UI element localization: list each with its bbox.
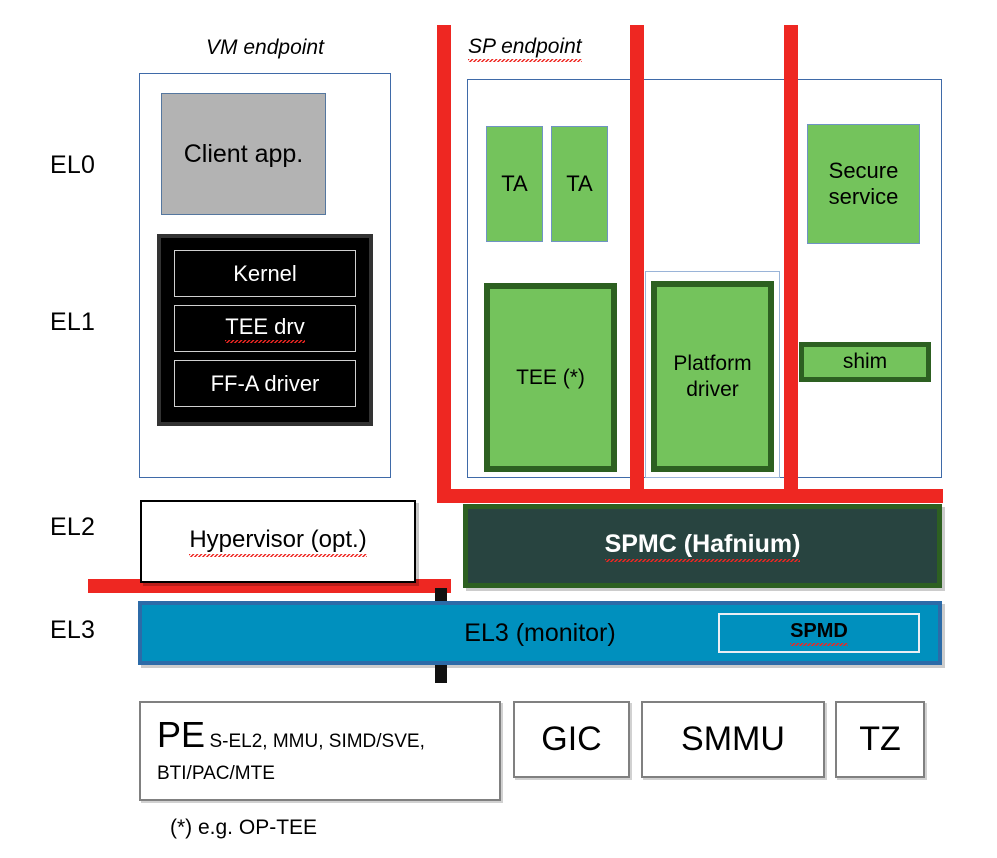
kernel-label: Kernel bbox=[233, 261, 297, 287]
shim-box[interactable]: shim bbox=[799, 342, 931, 382]
sp-endpoint-caption: SP endpoint bbox=[468, 33, 728, 63]
el0-row-label: EL0 bbox=[50, 148, 140, 182]
gic-label: GIC bbox=[541, 720, 601, 759]
ffa-driver-label: FF-A driver bbox=[211, 371, 320, 397]
spmd-box[interactable]: SPMD bbox=[718, 613, 920, 653]
pe-details-line1: S-EL2, MMU, SIMD/SVE, bbox=[209, 731, 424, 752]
secure-service-box[interactable]: Secure service bbox=[807, 124, 920, 244]
footnote-text: (*) e.g. OP-TEE bbox=[170, 816, 317, 839]
el0-label-text: EL0 bbox=[50, 151, 95, 180]
el3-label-text: EL3 bbox=[50, 616, 95, 645]
tee-drv-box[interactable]: TEE drv bbox=[174, 305, 356, 352]
platform-driver-label-line2: driver bbox=[686, 377, 739, 402]
vm-kernel-stack: Kernel TEE drv FF-A driver bbox=[157, 234, 373, 426]
tee-box[interactable]: TEE (*) bbox=[484, 283, 617, 472]
smmu-label: SMMU bbox=[681, 720, 785, 759]
pe-name-label: PE bbox=[157, 714, 205, 755]
pe-details-line2: BTI/PAC/MTE bbox=[157, 760, 483, 788]
security-boundary-horizontal-upper bbox=[437, 489, 943, 503]
tee-drv-label: TEE drv bbox=[225, 314, 304, 343]
el2-label-text: EL2 bbox=[50, 513, 95, 542]
hypervisor-label: Hypervisor (opt.) bbox=[189, 526, 366, 557]
security-boundary-vertical-right bbox=[784, 25, 798, 495]
el1-row-label: EL1 bbox=[50, 305, 140, 339]
platform-driver-label-line1: Platform bbox=[673, 351, 751, 376]
footnote: (*) e.g. OP-TEE bbox=[170, 816, 570, 844]
ta-box-2-label: TA bbox=[566, 171, 592, 197]
spmd-label: SPMD bbox=[790, 620, 848, 646]
platform-driver-box[interactable]: Platform driver bbox=[651, 281, 774, 472]
ffa-driver-box[interactable]: FF-A driver bbox=[174, 360, 356, 407]
vm-endpoint-caption-text: VM endpoint bbox=[206, 36, 324, 60]
spmc-box[interactable]: SPMC (Hafnium) bbox=[463, 504, 942, 588]
el3-row-label: EL3 bbox=[50, 613, 140, 647]
el3-monitor-label: EL3 (monitor) bbox=[464, 619, 615, 648]
client-app-box[interactable]: Client app. bbox=[161, 93, 326, 215]
tz-box[interactable]: TZ bbox=[835, 701, 925, 778]
ta-box-1[interactable]: TA bbox=[486, 126, 543, 242]
shim-label: shim bbox=[843, 349, 887, 374]
pe-box[interactable]: PE S-EL2, MMU, SIMD/SVE, BTI/PAC/MTE bbox=[139, 701, 501, 801]
ta-box-2[interactable]: TA bbox=[551, 126, 608, 242]
tz-label: TZ bbox=[859, 720, 901, 759]
el2-el3-connector-stub bbox=[435, 588, 447, 602]
gic-box[interactable]: GIC bbox=[513, 701, 630, 778]
client-app-label: Client app. bbox=[184, 140, 304, 169]
sp-endpoint-caption-text: SP endpoint bbox=[468, 35, 582, 62]
el2-row-label: EL2 bbox=[50, 510, 140, 544]
hypervisor-box[interactable]: Hypervisor (opt.) bbox=[140, 500, 416, 583]
secure-service-label-line1: Secure bbox=[829, 158, 899, 184]
vm-endpoint-caption: VM endpoint bbox=[139, 33, 391, 63]
el3-pe-connector-stub bbox=[435, 665, 447, 683]
kernel-box[interactable]: Kernel bbox=[174, 250, 356, 297]
tee-label: TEE (*) bbox=[516, 365, 585, 390]
smmu-box[interactable]: SMMU bbox=[641, 701, 825, 778]
security-boundary-vertical-middle bbox=[630, 25, 644, 495]
security-boundary-vertical-left bbox=[437, 25, 451, 503]
el1-label-text: EL1 bbox=[50, 308, 95, 337]
spmc-label: SPMC (Hafnium) bbox=[605, 530, 801, 562]
ta-box-1-label: TA bbox=[501, 171, 527, 197]
secure-service-label-line2: service bbox=[829, 184, 899, 210]
